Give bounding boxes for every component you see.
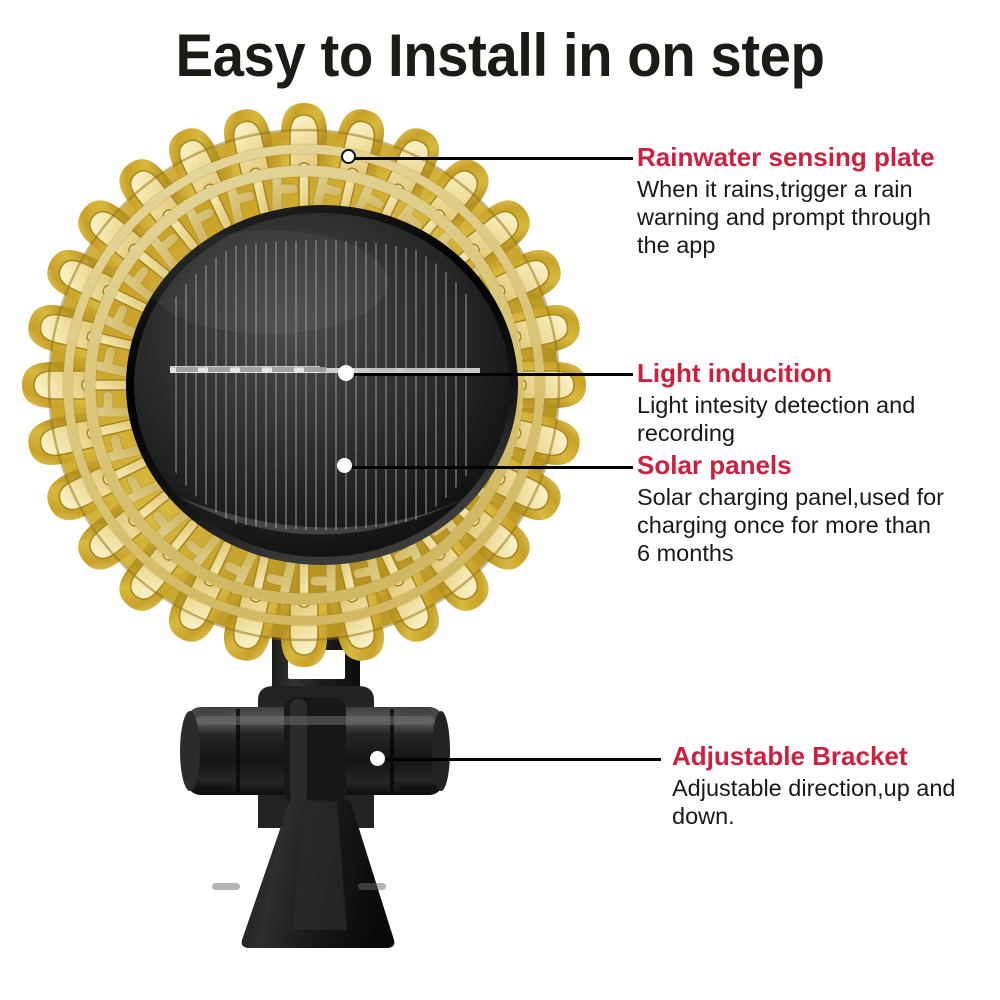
callout-light-inducition: Light inducition Light intesity detectio…	[637, 358, 987, 447]
callout-body-rainwater-sensing-plate: When it rains,trigger a rain warning and…	[637, 175, 987, 259]
infographic-canvas: Easy to Install in on step	[0, 0, 1000, 1000]
callout-body-line: recording	[637, 419, 987, 447]
hotspot-dot-light-inducition[interactable]	[338, 365, 354, 381]
callout-heading-light-inducition: Light inducition	[637, 358, 987, 388]
callout-heading-solar-panels: Solar panels	[637, 450, 987, 480]
callout-body-line: Solar charging panel,used for	[637, 483, 987, 511]
callout-body-line: down.	[672, 802, 1000, 830]
callout-body-line: warning and prompt through	[637, 203, 987, 231]
callout-body-line: When it rains,trigger a rain	[637, 175, 987, 203]
callout-adjustable-bracket: Adjustable Bracket Adjustable direction,…	[672, 741, 1000, 830]
callout-heading-rainwater-sensing-plate: Rainwater sensing plate	[637, 142, 987, 172]
bracket-knob	[180, 697, 450, 805]
callout-body-line: Light intesity detection and	[637, 391, 987, 419]
callout-body-line: charging once for more than	[637, 511, 987, 539]
callout-body-line: the app	[637, 231, 987, 259]
leader-line-light-inducition	[347, 373, 633, 376]
leader-line-solar-panels	[345, 466, 633, 469]
leader-line-rainwater-sensing-plate	[350, 157, 633, 160]
callout-body-light-inducition: Light intesity detection and recording	[637, 391, 987, 447]
hotspot-dot-rainwater-sensing-plate[interactable]	[341, 149, 356, 164]
callout-rainwater-sensing-plate: Rainwater sensing plate When it rains,tr…	[637, 142, 987, 259]
hotspot-dot-solar-panels[interactable]	[337, 458, 352, 473]
callout-solar-panels: Solar panels Solar charging panel,used f…	[637, 450, 987, 567]
callout-body-line: Adjustable direction,up and	[672, 774, 1000, 802]
leader-line-adjustable-bracket	[379, 758, 661, 761]
hotspot-dot-adjustable-bracket[interactable]	[370, 751, 385, 766]
callout-body-solar-panels: Solar charging panel,used for charging o…	[637, 483, 987, 567]
callout-body-adjustable-bracket: Adjustable direction,up and down.	[672, 774, 1000, 830]
callout-heading-adjustable-bracket: Adjustable Bracket	[672, 741, 1000, 771]
solar-panel-disc	[126, 205, 518, 565]
callout-body-line: 6 months	[637, 539, 987, 567]
